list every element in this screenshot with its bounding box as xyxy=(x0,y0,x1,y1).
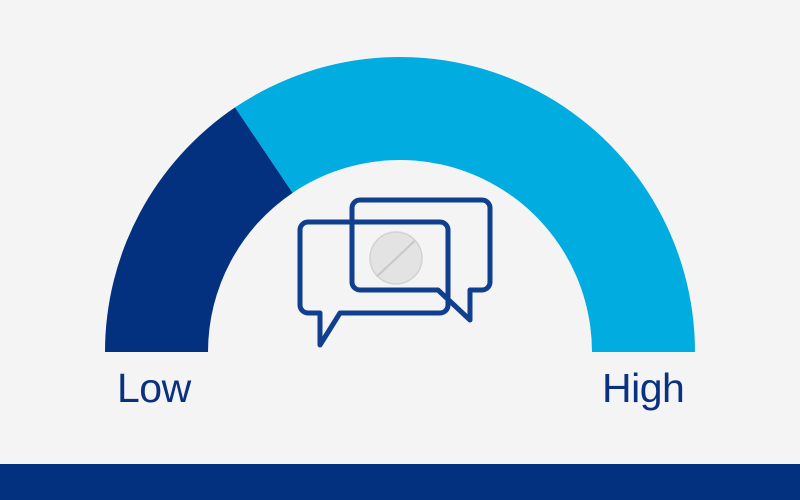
footer-bar xyxy=(0,464,800,500)
gauge-graphic: Low High xyxy=(0,0,800,500)
gauge-label-high: High xyxy=(602,368,684,409)
gauge-label-low: Low xyxy=(117,368,191,409)
gauge-svg xyxy=(0,0,800,500)
